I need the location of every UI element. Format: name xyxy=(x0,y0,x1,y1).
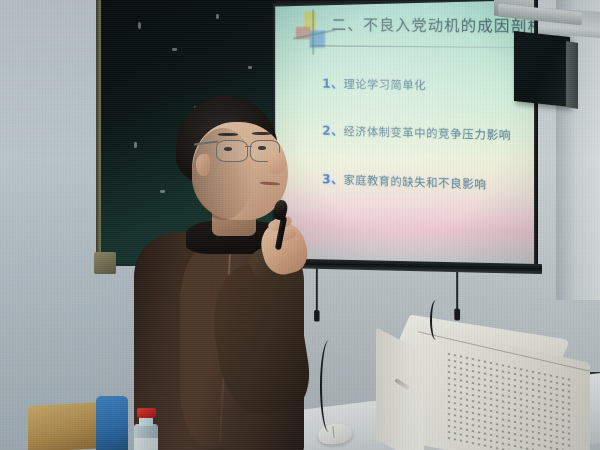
slide-logo-icon xyxy=(293,9,335,56)
wooden-chair xyxy=(28,402,106,450)
ceiling-cable xyxy=(430,300,442,340)
presenter xyxy=(120,96,340,450)
slide-title-rule xyxy=(311,45,519,48)
blackboard-foot xyxy=(94,252,116,274)
water-bottle-label xyxy=(134,438,158,450)
slide-bullet-1: 1、理论学习简单化 xyxy=(322,73,426,93)
bullet-number-1: 1、 xyxy=(322,77,343,92)
bullet-text-3: 家庭教育的缺失和不良影响 xyxy=(344,173,487,191)
presenter-brow-left xyxy=(218,133,238,136)
wall-speaker-side xyxy=(566,41,578,109)
slide-bullet-2: 2、经济体制变革中的竞争压力影响 xyxy=(322,120,511,143)
crt-monitor xyxy=(384,326,584,450)
screen-weight-right xyxy=(456,272,458,311)
bullet-text-1: 理论学习简单化 xyxy=(344,77,426,92)
bullet-text-2: 经济体制变革中的竞争压力影响 xyxy=(344,125,511,143)
glasses-bridge xyxy=(245,146,252,147)
presenter-brow-right xyxy=(252,132,272,135)
photo-scene: 二、不良入党动机的成因剖析 1、理论学习简单化 2、经济体制变革中的竞争压力影响… xyxy=(0,0,600,450)
presenter-nose xyxy=(268,152,286,174)
blackboard-frame xyxy=(96,0,101,266)
presenter-ear xyxy=(196,154,210,176)
glasses-lens-left xyxy=(216,140,248,162)
slide-bullet-3: 3、家庭教育的缺失和不良影响 xyxy=(322,169,486,193)
blue-chair xyxy=(96,396,128,450)
water-bottle-cap xyxy=(137,408,156,418)
wall-speaker xyxy=(514,31,570,107)
